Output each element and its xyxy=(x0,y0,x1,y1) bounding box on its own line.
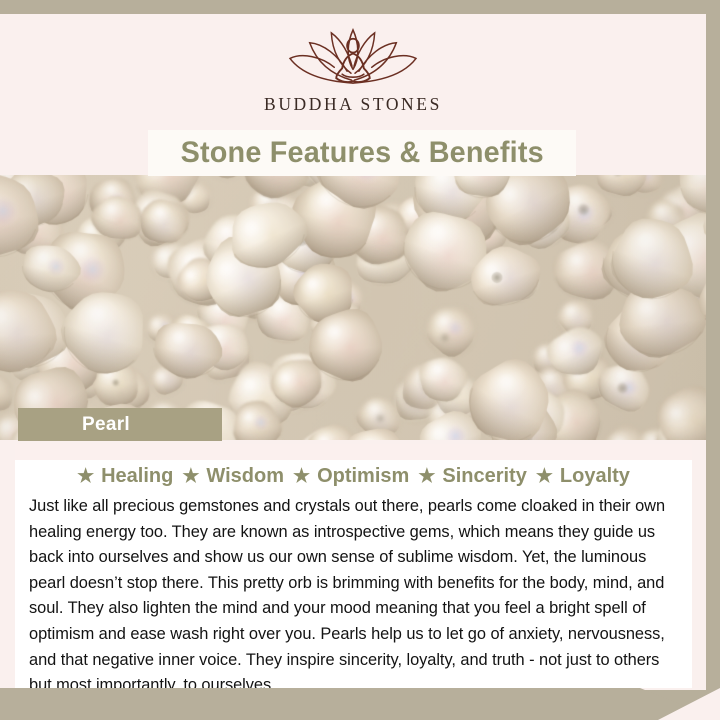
benefit-keyword: ★Loyalty xyxy=(527,465,630,488)
stone-name-chip: Pearl xyxy=(18,408,222,441)
brand-wordmark: BUDDHA STONES xyxy=(264,94,442,115)
pearl-photo-canvas xyxy=(0,175,706,440)
benefit-keyword-label: Sincerity xyxy=(442,465,526,488)
description-text: Just like all precious gemstones and cry… xyxy=(29,494,680,699)
benefit-keyword-row: ★Healing★Wisdom★Optimism★Sincerity★Loyal… xyxy=(15,460,692,492)
benefit-keyword: ★Wisdom xyxy=(173,465,284,488)
benefit-keyword: ★Optimism xyxy=(284,465,409,488)
benefit-keyword-label: Wisdom xyxy=(206,465,284,488)
star-icon: ★ xyxy=(77,467,94,486)
pearl-photo xyxy=(0,175,706,440)
star-icon: ★ xyxy=(536,467,553,486)
section-title-ribbon: Stone Features & Benefits xyxy=(148,130,576,176)
page-title: Stone Features & Benefits xyxy=(180,136,543,170)
panel-top-tint xyxy=(15,444,692,460)
star-icon: ★ xyxy=(293,467,310,486)
benefit-keyword: ★Sincerity xyxy=(409,465,527,488)
stone-name-label: Pearl xyxy=(18,414,130,436)
lotus-meditation-figure-icon xyxy=(278,24,428,88)
star-icon: ★ xyxy=(182,467,199,486)
star-icon: ★ xyxy=(418,467,435,486)
benefit-keyword-label: Optimism xyxy=(317,465,409,488)
bottom-khaki-band xyxy=(0,688,720,720)
benefit-keyword-label: Healing xyxy=(101,465,173,488)
description-panel: ★Healing★Wisdom★Optimism★Sincerity★Loyal… xyxy=(15,444,692,688)
brand-header: BUDDHA STONES xyxy=(0,14,706,124)
benefit-keyword: ★Healing xyxy=(77,465,173,488)
benefit-keyword-label: Loyalty xyxy=(560,465,630,488)
